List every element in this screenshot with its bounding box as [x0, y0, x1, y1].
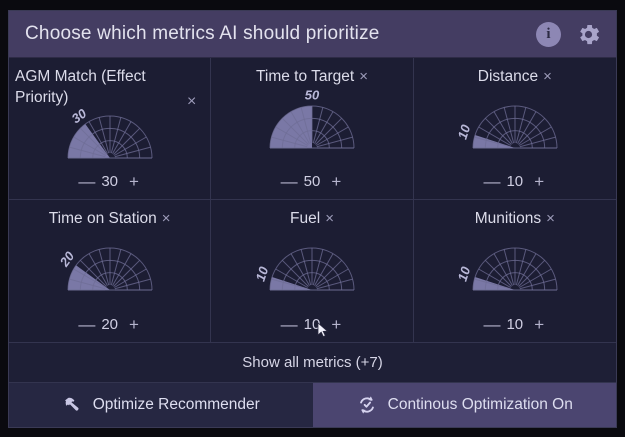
decrement-button[interactable]: —: [483, 173, 497, 190]
metric-cell: Distance×10—10+: [414, 58, 616, 200]
decrement-button[interactable]: —: [78, 316, 92, 333]
metric-name: Time to Target: [256, 68, 354, 85]
decrement-button[interactable]: —: [483, 316, 497, 333]
metric-cell: AGM Match (Effect Priority)×30—30+: [9, 58, 211, 200]
remove-metric-icon[interactable]: ×: [359, 68, 368, 85]
metric-value: 20: [101, 316, 118, 333]
gauge-dial: [264, 244, 360, 296]
metric-cell: Munitions×10—10+: [414, 200, 616, 342]
info-icon-glyph: i: [536, 22, 561, 47]
gauge-holder: 50: [264, 102, 360, 159]
gear-icon[interactable]: [575, 21, 602, 48]
metric-name: Munitions: [475, 210, 541, 227]
gauge-dial: [467, 244, 563, 296]
gauge-holder: 30: [62, 112, 158, 169]
remove-metric-icon[interactable]: ×: [543, 68, 552, 85]
continuous-optimization-label: Continous Optimization On: [388, 396, 573, 414]
show-all-metrics-button[interactable]: Show all metrics (+7): [9, 342, 616, 383]
increment-button[interactable]: +: [329, 316, 343, 333]
refresh-cycle-check-icon: [356, 394, 378, 416]
decrement-button[interactable]: —: [281, 173, 295, 190]
gauge-container[interactable]: 50: [211, 88, 412, 173]
gauge-holder: 10: [467, 102, 563, 159]
metric-cell: Time to Target×50—50+: [211, 58, 413, 200]
remove-metric-icon[interactable]: ×: [162, 210, 171, 227]
increment-button[interactable]: +: [127, 316, 141, 333]
optimize-recommender-button[interactable]: Optimize Recommender: [9, 383, 313, 427]
gear-icon-svg: [575, 21, 602, 48]
value-stepper: —20+: [78, 316, 141, 342]
page-title: Choose which metrics AI should prioritiz…: [25, 23, 522, 45]
metric-value: 10: [304, 316, 321, 333]
metric-title: AGM Match (Effect Priority): [9, 67, 210, 109]
value-stepper: —10+: [483, 173, 546, 199]
continuous-optimization-button[interactable]: Continous Optimization On: [313, 383, 617, 427]
gauge-container[interactable]: 30: [9, 109, 210, 173]
decrement-button[interactable]: —: [281, 316, 295, 333]
gauge-holder: 20: [62, 244, 158, 301]
optimize-recommender-label: Optimize Recommender: [93, 396, 260, 414]
metric-cell: Fuel×10—10+: [211, 200, 413, 342]
metric-title: Distance×: [414, 67, 616, 88]
gauge-container[interactable]: 10: [211, 230, 412, 316]
hammer-icon: [62, 395, 83, 416]
gauge-dial: [264, 102, 360, 154]
value-stepper: —30+: [78, 173, 141, 199]
gauge-dial: [467, 102, 563, 154]
increment-button[interactable]: +: [127, 173, 141, 190]
metric-value: 10: [506, 316, 523, 333]
gauge-holder: 10: [264, 244, 360, 301]
metric-name: Fuel: [290, 210, 320, 227]
gauge-value-label: 50: [305, 87, 319, 102]
value-stepper: —50+: [281, 173, 344, 199]
metric-value: 10: [506, 173, 523, 190]
value-stepper: —10+: [483, 316, 546, 342]
metrics-grid: AGM Match (Effect Priority)×30—30+Time t…: [9, 58, 616, 342]
increment-button[interactable]: +: [532, 316, 546, 333]
remove-metric-icon[interactable]: ×: [325, 210, 334, 227]
remove-metric-icon[interactable]: ×: [546, 210, 555, 227]
metric-name: Time on Station: [49, 210, 157, 227]
metric-title: Munitions×: [414, 209, 616, 230]
metric-name: AGM Match (Effect Priority): [15, 68, 146, 106]
decrement-button[interactable]: —: [78, 173, 92, 190]
metric-value: 50: [304, 173, 321, 190]
metric-title: Fuel×: [211, 209, 412, 230]
panel-header: Choose which metrics AI should prioritiz…: [9, 11, 616, 58]
show-all-metrics-label: Show all metrics (+7): [242, 354, 382, 371]
gauge-container[interactable]: 10: [414, 230, 616, 316]
gauge-container[interactable]: 20: [9, 230, 210, 316]
metric-value: 30: [101, 173, 118, 190]
metrics-priority-panel: Choose which metrics AI should prioritiz…: [8, 10, 617, 428]
footer-actions: Optimize Recommender Continous Optimizat…: [9, 383, 616, 427]
metric-title: Time to Target×: [211, 67, 412, 88]
info-icon[interactable]: i: [536, 22, 561, 47]
gauge-container[interactable]: 10: [414, 88, 616, 173]
metric-cell: Time on Station×20—20+: [9, 200, 211, 342]
remove-metric-icon[interactable]: ×: [187, 94, 196, 110]
gauge-dial: [62, 244, 158, 296]
value-stepper: —10+: [281, 316, 344, 342]
metric-title: Time on Station×: [9, 209, 210, 230]
metric-name: Distance: [478, 68, 538, 85]
increment-button[interactable]: +: [532, 173, 546, 190]
gauge-holder: 10: [467, 244, 563, 301]
increment-button[interactable]: +: [329, 173, 343, 190]
